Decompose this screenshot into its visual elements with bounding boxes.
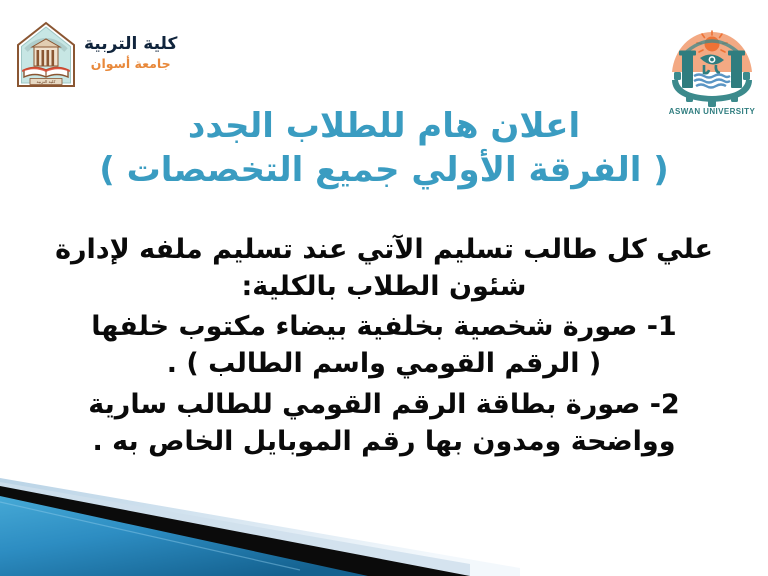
requirement-1-line-2: ( الرقم القومي واسم الطالب ) . (0, 346, 768, 383)
requirement-1-line-1: 1- صورة شخصية بخلفية بيضاء مكتوب خلفها (0, 309, 768, 346)
faculty-shield-book-icon: كلية التربية (14, 20, 78, 92)
requirement-item-1: 1- صورة شخصية بخلفية بيضاء مكتوب خلفها (… (0, 309, 768, 382)
intro-line-2: شئون الطلاب بالكلية: (0, 269, 768, 306)
title-line-1: اعلان هام للطلاب الجدد (0, 104, 768, 148)
title-line-2: ( الفرقة الأولي جميع التخصصات ) (0, 148, 768, 192)
intro-line-1: علي كل طالب تسليم الآتي عند تسليم ملفه ل… (0, 232, 768, 269)
svg-text:كلية التربية: كلية التربية (37, 79, 56, 84)
faculty-logo-text: كلية التربية جامعة أسوان (84, 35, 177, 78)
title-block: اعلان هام للطلاب الجدد ( الفرقة الأولي ج… (0, 104, 768, 192)
requirement-item-2: 2- صورة بطاقة الرقم القومي للطالب سارية … (0, 387, 768, 460)
faculty-name: كلية التربية (84, 35, 177, 55)
announcement-slide: كلية التربية كلية التربية جامعة أسوان (0, 0, 768, 576)
university-logo: ASWAN UNIVERSITY ASWAN UNIVERSITY (664, 10, 760, 118)
faculty-logo: كلية التربية كلية التربية جامعة أسوان (14, 8, 176, 104)
requirement-2-line-1: 2- صورة بطاقة الرقم القومي للطالب سارية (0, 387, 768, 424)
bottom-diagonal-banner (0, 472, 768, 576)
body-block: علي كل طالب تسليم الآتي عند تسليم ملفه ل… (0, 232, 768, 460)
requirement-2-line-2: وواضحة ومدون بها رقم الموبايل الخاص به . (0, 424, 768, 461)
faculty-university-name: جامعة أسوان (91, 57, 171, 71)
aswan-university-crest-icon: ASWAN UNIVERSITY (664, 10, 760, 118)
